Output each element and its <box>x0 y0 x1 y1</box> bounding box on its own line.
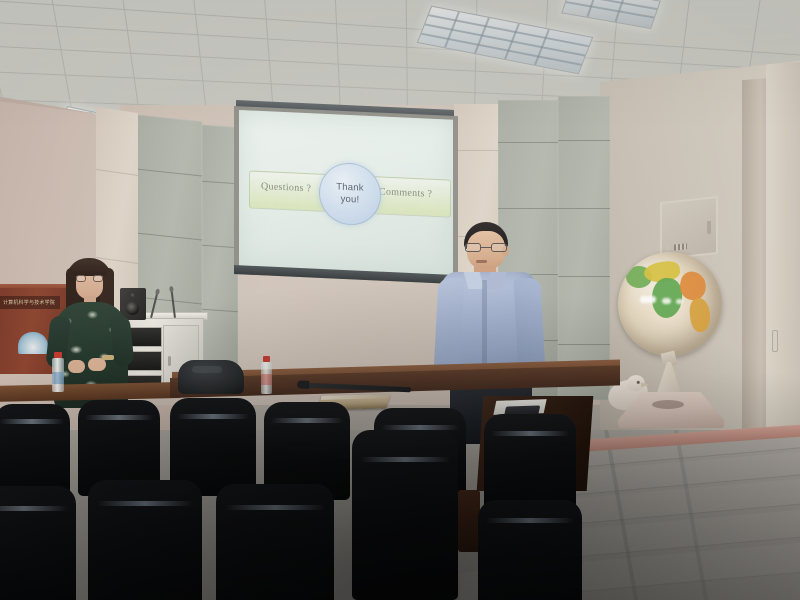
wall-panel-grey-left-2 <box>202 125 238 368</box>
auditorium-chair[interactable] <box>0 404 70 496</box>
auditorium-chair[interactable] <box>0 486 76 600</box>
auditorium-chair[interactable] <box>88 480 202 600</box>
presentation-slide: Questions ? Comments ? Thank you! <box>239 110 453 277</box>
hand-left <box>68 360 85 373</box>
conference-room-photo: Questions ? Comments ? Thank you! 计算机科学与… <box>0 0 800 600</box>
mouth <box>476 260 487 263</box>
bottle-cap <box>54 352 62 358</box>
microphone-head <box>169 286 174 292</box>
chair-backrest <box>0 404 70 496</box>
decorative-globe <box>610 252 730 452</box>
chair-highlight-stripe <box>97 501 193 506</box>
landmass-south-america <box>688 297 711 333</box>
backpack-strap <box>192 366 222 373</box>
chair-armrest <box>458 490 480 552</box>
shirt-placket <box>482 280 487 376</box>
hair-fringe <box>72 260 107 276</box>
eyeglasses-icon <box>465 243 507 252</box>
chair-highlight-stripe <box>85 415 154 420</box>
book-pages <box>321 394 391 400</box>
door-handle[interactable] <box>772 330 778 352</box>
bottle-label <box>52 372 64 384</box>
auditorium-chair[interactable] <box>216 484 334 600</box>
chair-highlight-stripe <box>0 419 64 424</box>
slide-label-questions: Questions ? <box>261 181 311 194</box>
chair-backrest <box>216 484 334 600</box>
wall-panel-grey-right <box>558 96 610 400</box>
slide-thank-you-circle: Thank you! <box>319 162 381 227</box>
globe-highlight <box>662 298 671 304</box>
chair-backrest <box>88 480 202 600</box>
slide-thankyou-line2: you! <box>341 194 360 207</box>
chair-backrest <box>478 500 582 600</box>
cabinet-door-knob[interactable] <box>168 356 171 366</box>
podium-emblem <box>18 332 48 354</box>
chair-backrest <box>0 486 76 600</box>
water-bottle-center <box>261 362 272 394</box>
globe-sphere <box>618 252 722 356</box>
wristwatch <box>102 355 114 360</box>
globe-base-shadow <box>652 400 684 409</box>
chair-highlight-stripe <box>486 518 573 523</box>
auditorium-chair[interactable] <box>352 430 458 600</box>
bottle-cap <box>263 356 270 362</box>
chair-highlight-stripe <box>271 418 343 423</box>
chair-highlight-stripe <box>177 414 249 419</box>
chair-highlight-stripe <box>225 505 324 510</box>
globe-highlight <box>640 296 656 303</box>
auditorium-chair[interactable] <box>478 500 582 600</box>
projection-screen-surface: Questions ? Comments ? Thank you! <box>239 110 453 277</box>
chair-highlight-stripe <box>491 431 568 436</box>
chair-highlight-stripe <box>0 506 68 511</box>
access-panel-latch[interactable] <box>707 221 711 234</box>
access-panel-vent <box>674 243 687 250</box>
umbrella-handle <box>297 380 309 389</box>
bottle-label <box>261 374 272 385</box>
backpack <box>178 360 244 394</box>
chair-highlight-stripe <box>381 425 458 430</box>
chair-backrest <box>352 430 458 600</box>
globe-highlight <box>676 299 683 304</box>
slide-label-comments: Comments ? <box>379 186 432 199</box>
eyeglasses-icon <box>76 275 103 282</box>
sleeve-left <box>434 277 465 374</box>
globe-stem <box>656 362 682 396</box>
water-bottle-left <box>52 358 64 392</box>
chair-highlight-stripe <box>360 457 449 462</box>
